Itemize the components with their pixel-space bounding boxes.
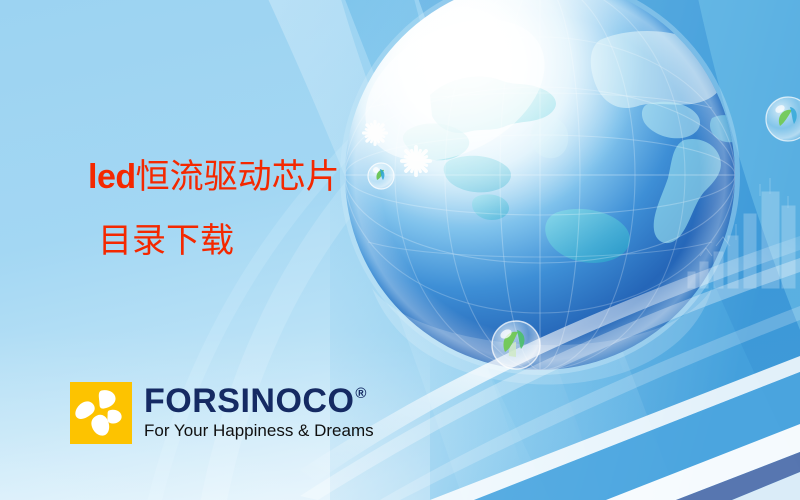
logo-wordmark-text: FORSINOCO xyxy=(144,384,354,418)
registered-trademark-icon: ® xyxy=(355,386,367,401)
sparkle-asterisk-1 xyxy=(362,120,388,146)
sparkle-asterisk-2 xyxy=(400,145,432,177)
logo-wordmark: FORSINOCO® xyxy=(144,384,374,418)
logo-text-block: FORSINOCO® For Your Happiness & Dreams xyxy=(144,382,374,441)
forsinoco-logo[interactable]: FORSINOCO® For Your Happiness & Dreams xyxy=(70,382,374,444)
logo-tagline: For Your Happiness & Dreams xyxy=(144,421,374,441)
bubble-green-leaf-1 xyxy=(368,163,394,189)
banner-canvas: led恒流驱动芯片 目录下载 FORSINOCO® For Your Happi… xyxy=(0,0,800,500)
forsinoco-pinwheel-flower-mark xyxy=(70,382,132,444)
bubble-green-leaf-2 xyxy=(492,321,540,369)
pinwheel-petals-icon xyxy=(70,382,132,444)
earth-globe xyxy=(340,0,745,385)
